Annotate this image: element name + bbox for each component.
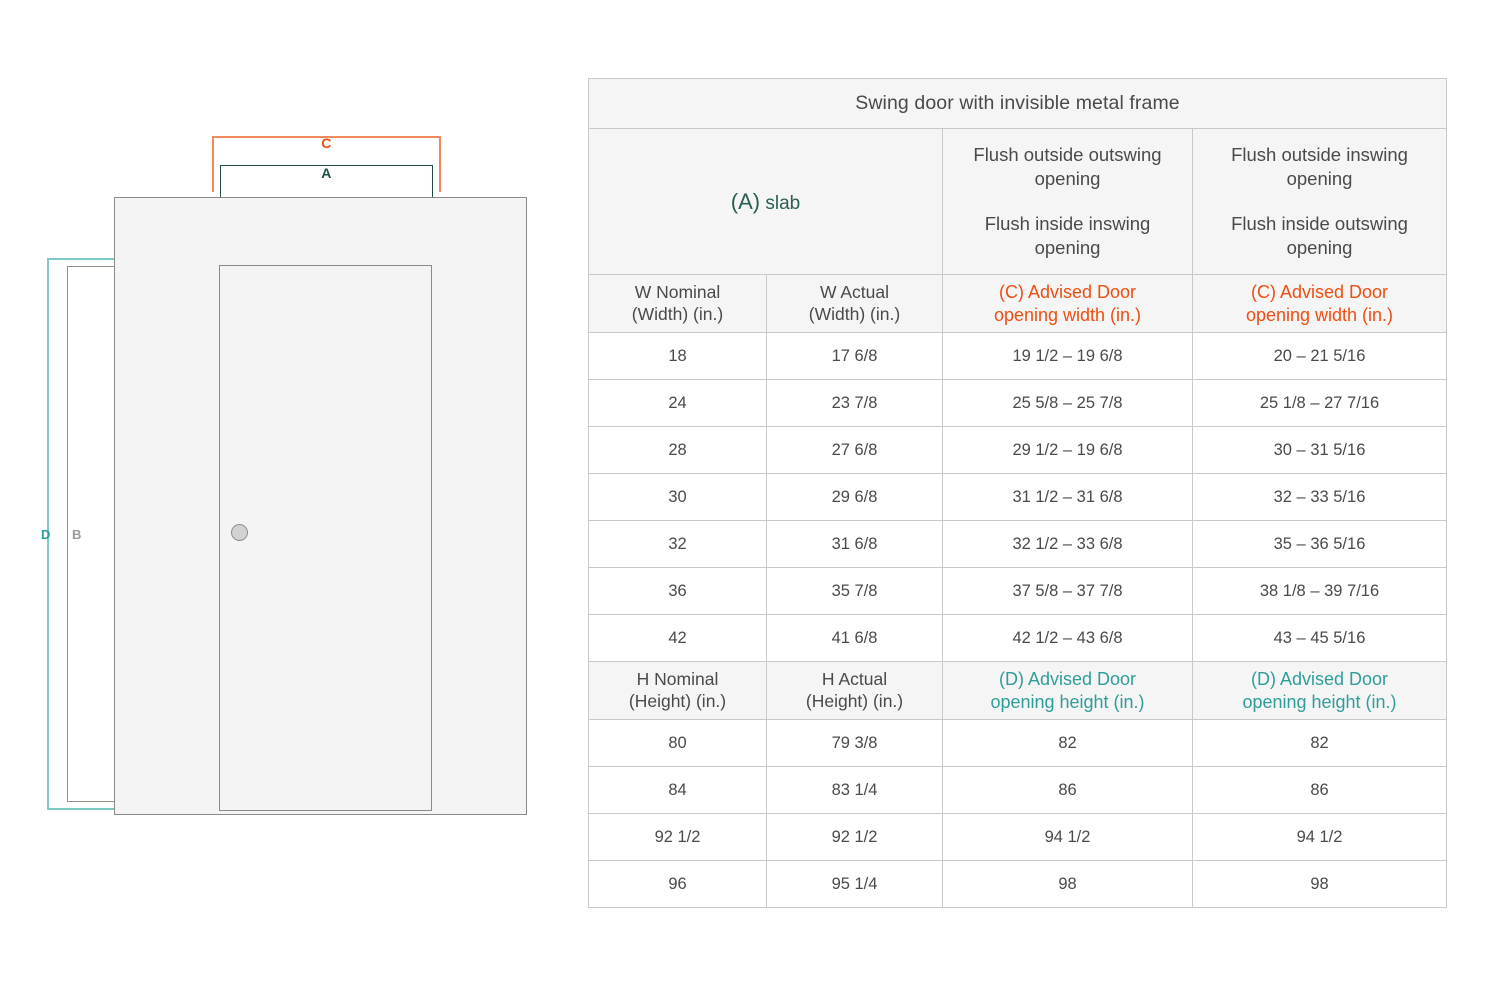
group-header-outswing: Flush outside outswing opening Flush ins… xyxy=(943,129,1193,275)
table-row: 92 1/2 92 1/2 94 1/2 94 1/2 xyxy=(589,814,1447,861)
cell-advised-height-outswing: 98 xyxy=(943,861,1193,908)
slab-letter: (A) xyxy=(731,189,760,214)
table-row: 80 79 3/8 82 82 xyxy=(589,720,1447,767)
cell-advised-width-outswing: 29 1/2 – 19 6/8 xyxy=(943,427,1193,474)
cell-advised-width-inswing: 20 – 21 5/16 xyxy=(1193,333,1447,380)
cell-advised-width-outswing: 42 1/2 – 43 6/8 xyxy=(943,615,1193,662)
cell-advised-width-inswing: 35 – 36 5/16 xyxy=(1193,521,1447,568)
cell-w-nominal: 42 xyxy=(589,615,767,662)
cell-advised-height-inswing: 94 1/2 xyxy=(1193,814,1447,861)
subheader-h-actual: H Actual (Height) (in.) xyxy=(767,662,943,720)
slab-text: slab xyxy=(760,193,800,214)
cell-w-actual: 27 6/8 xyxy=(767,427,943,474)
dimension-label-a: A xyxy=(220,165,433,181)
cell-w-actual: 23 7/8 xyxy=(767,380,943,427)
table-row: 18 17 6/8 19 1/2 – 19 6/8 20 – 21 5/16 xyxy=(589,333,1447,380)
table-row: 36 35 7/8 37 5/8 – 37 7/8 38 1/8 – 39 7/… xyxy=(589,568,1447,615)
cell-w-actual: 41 6/8 xyxy=(767,615,943,662)
subheader-w-actual-l1: W Actual xyxy=(775,282,934,304)
subheader-w-actual: W Actual (Width) (in.) xyxy=(767,275,943,333)
width-subheader-row: W Nominal (Width) (in.) W Actual (Width)… xyxy=(589,275,1447,333)
cell-advised-width-outswing: 25 5/8 – 25 7/8 xyxy=(943,380,1193,427)
dimension-label-c: C xyxy=(212,135,441,151)
table-row: 30 29 6/8 31 1/2 – 31 6/8 32 – 33 5/16 xyxy=(589,474,1447,521)
subheader-advised-width-inswing: (C) Advised Door opening width (in.) xyxy=(1193,275,1447,333)
dimension-label-b: B xyxy=(72,527,82,542)
subheader-h-actual-l1: H Actual xyxy=(775,669,934,691)
door-knob-icon xyxy=(231,524,248,541)
cell-advised-height-inswing: 86 xyxy=(1193,767,1447,814)
subheader-h-nominal: H Nominal (Height) (in.) xyxy=(589,662,767,720)
table-row: 84 83 1/4 86 86 xyxy=(589,767,1447,814)
subheader-h-nominal-l2: (Height) (in.) xyxy=(597,691,758,713)
subheader-h-nominal-l1: H Nominal xyxy=(597,669,758,691)
cell-advised-width-outswing: 32 1/2 – 33 6/8 xyxy=(943,521,1193,568)
group-header-slab: (A) slab xyxy=(589,129,943,275)
subheader-w-nominal-l2: (Width) (in.) xyxy=(597,304,758,326)
cell-h-actual: 95 1/4 xyxy=(767,861,943,908)
subheader-h-actual-l2: (Height) (in.) xyxy=(775,691,934,713)
cell-advised-width-outswing: 37 5/8 – 37 7/8 xyxy=(943,568,1193,615)
cell-advised-width-inswing: 25 1/8 – 27 7/16 xyxy=(1193,380,1447,427)
table-row: 32 31 6/8 32 1/2 – 33 6/8 35 – 36 5/16 xyxy=(589,521,1447,568)
cell-w-nominal: 36 xyxy=(589,568,767,615)
subheader-advised-width-outswing-l1: (C) Advised Door xyxy=(951,281,1184,304)
subheader-advised-width-outswing: (C) Advised Door opening width (in.) xyxy=(943,275,1193,333)
cell-advised-height-inswing: 82 xyxy=(1193,720,1447,767)
height-subheader-row: H Nominal (Height) (in.) H Actual (Heigh… xyxy=(589,662,1447,720)
cell-h-nominal: 92 1/2 xyxy=(589,814,767,861)
cell-advised-width-outswing: 31 1/2 – 31 6/8 xyxy=(943,474,1193,521)
group-header-outswing-line2: Flush inside inswing opening xyxy=(953,212,1182,261)
cell-h-nominal: 84 xyxy=(589,767,767,814)
cell-h-actual: 83 1/4 xyxy=(767,767,943,814)
cell-advised-width-inswing: 43 – 45 5/16 xyxy=(1193,615,1447,662)
cell-h-nominal: 96 xyxy=(589,861,767,908)
cell-w-actual: 17 6/8 xyxy=(767,333,943,380)
subheader-advised-height-outswing: (D) Advised Door opening height (in.) xyxy=(943,662,1193,720)
table-group-header-row: (A) slab Flush outside outswing opening … xyxy=(589,129,1447,275)
page-root: C A D B Swing door with invisible metal … xyxy=(0,0,1501,1000)
subheader-advised-height-outswing-l1: (D) Advised Door xyxy=(951,668,1184,691)
cell-advised-width-outswing: 19 1/2 – 19 6/8 xyxy=(943,333,1193,380)
door-size-table-wrapper: Swing door with invisible metal frame (A… xyxy=(588,78,1446,908)
cell-h-nominal: 80 xyxy=(589,720,767,767)
table-row: 28 27 6/8 29 1/2 – 19 6/8 30 – 31 5/16 xyxy=(589,427,1447,474)
cell-advised-width-inswing: 30 – 31 5/16 xyxy=(1193,427,1447,474)
subheader-w-nominal: W Nominal (Width) (in.) xyxy=(589,275,767,333)
subheader-advised-height-inswing-l2: opening height (in.) xyxy=(1201,691,1438,714)
cell-advised-height-outswing: 82 xyxy=(943,720,1193,767)
dimension-label-d: D xyxy=(41,527,51,542)
cell-w-nominal: 28 xyxy=(589,427,767,474)
group-header-inswing-line2: Flush inside outswing opening xyxy=(1203,212,1436,261)
subheader-advised-width-inswing-l1: (C) Advised Door xyxy=(1201,281,1438,304)
subheader-advised-width-outswing-l2: opening width (in.) xyxy=(951,304,1184,327)
cell-h-actual: 79 3/8 xyxy=(767,720,943,767)
group-header-inswing-line1: Flush outside inswing opening xyxy=(1203,143,1436,192)
cell-w-nominal: 32 xyxy=(589,521,767,568)
table-title-row: Swing door with invisible metal frame xyxy=(589,79,1447,129)
table-row: 42 41 6/8 42 1/2 – 43 6/8 43 – 45 5/16 xyxy=(589,615,1447,662)
cell-h-actual: 92 1/2 xyxy=(767,814,943,861)
cell-w-actual: 31 6/8 xyxy=(767,521,943,568)
group-header-inswing: Flush outside inswing opening Flush insi… xyxy=(1193,129,1447,275)
subheader-advised-height-inswing-l1: (D) Advised Door xyxy=(1201,668,1438,691)
cell-w-nominal: 30 xyxy=(589,474,767,521)
cell-w-nominal: 24 xyxy=(589,380,767,427)
cell-w-actual: 35 7/8 xyxy=(767,568,943,615)
door-size-table: Swing door with invisible metal frame (A… xyxy=(588,78,1447,908)
cell-advised-height-outswing: 94 1/2 xyxy=(943,814,1193,861)
subheader-advised-height-outswing-l2: opening height (in.) xyxy=(951,691,1184,714)
subheader-advised-width-inswing-l2: opening width (in.) xyxy=(1201,304,1438,327)
group-header-outswing-line1: Flush outside outswing opening xyxy=(953,143,1182,192)
cell-w-actual: 29 6/8 xyxy=(767,474,943,521)
table-row: 24 23 7/8 25 5/8 – 25 7/8 25 1/8 – 27 7/… xyxy=(589,380,1447,427)
door-dimension-diagram: C A D B xyxy=(0,0,570,1000)
cell-advised-height-inswing: 98 xyxy=(1193,861,1447,908)
table-row: 96 95 1/4 98 98 xyxy=(589,861,1447,908)
subheader-advised-height-inswing: (D) Advised Door opening height (in.) xyxy=(1193,662,1447,720)
subheader-w-actual-l2: (Width) (in.) xyxy=(775,304,934,326)
door-slab-outline xyxy=(219,265,432,811)
table-title: Swing door with invisible metal frame xyxy=(589,79,1447,129)
cell-advised-height-outswing: 86 xyxy=(943,767,1193,814)
cell-w-nominal: 18 xyxy=(589,333,767,380)
cell-advised-width-inswing: 32 – 33 5/16 xyxy=(1193,474,1447,521)
subheader-w-nominal-l1: W Nominal xyxy=(597,282,758,304)
cell-advised-width-inswing: 38 1/8 – 39 7/16 xyxy=(1193,568,1447,615)
